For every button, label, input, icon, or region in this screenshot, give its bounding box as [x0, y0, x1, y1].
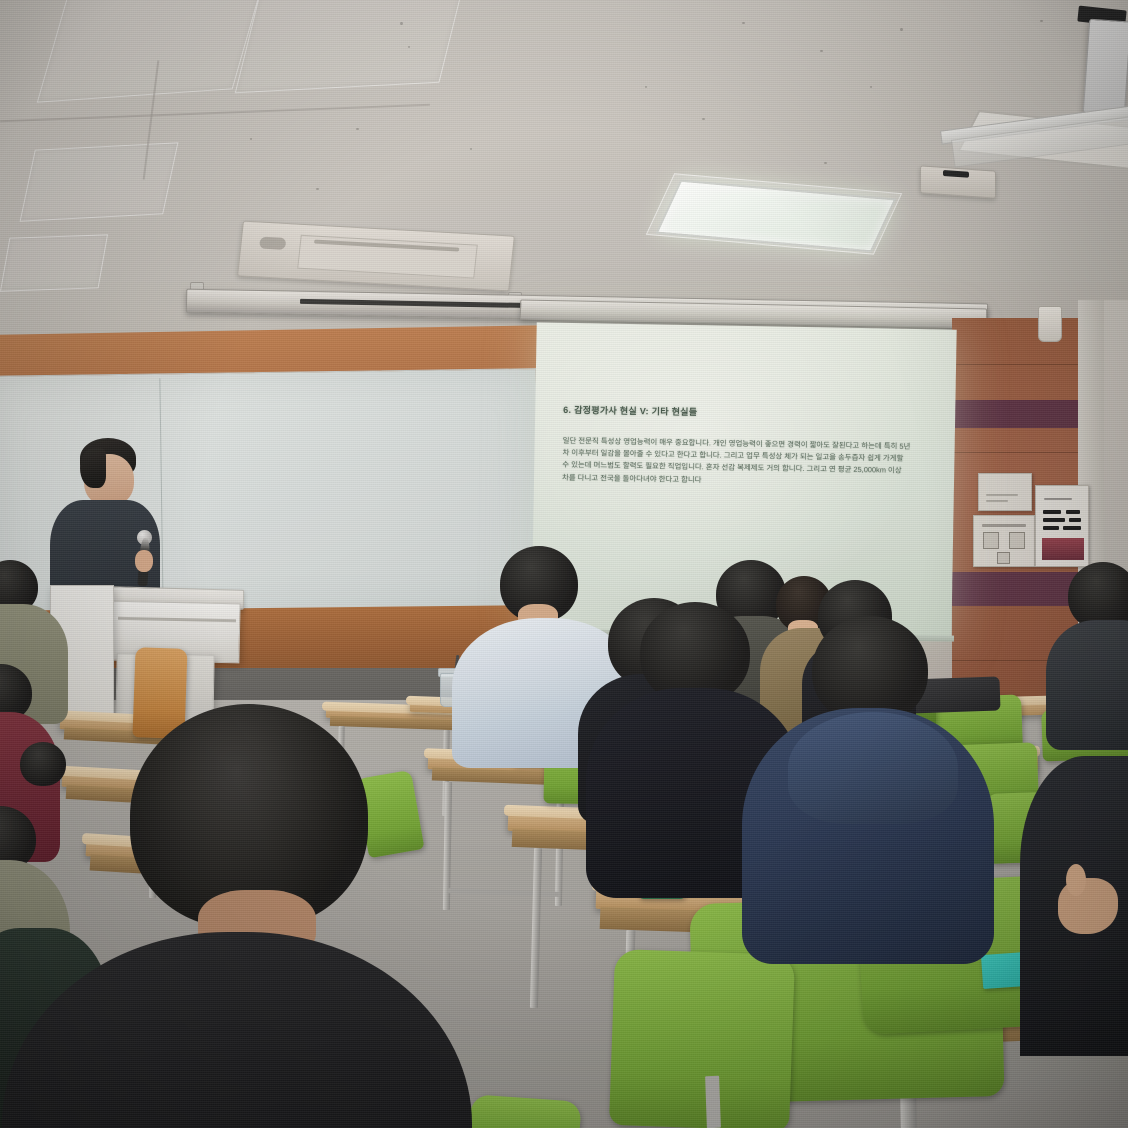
ceiling-speck [824, 162, 827, 164]
ceiling-speck [250, 138, 252, 140]
wall-accent-band [952, 400, 1078, 428]
ceiling-speck [900, 28, 903, 31]
hoodie-hood [788, 712, 958, 824]
ceiling-tile [0, 234, 108, 291]
notice-text-line [982, 524, 1026, 527]
ceiling-projector-mount [1083, 19, 1128, 116]
ceiling-speck [1040, 20, 1043, 22]
wall-accent-band [952, 572, 1078, 606]
ceiling-speck [316, 188, 319, 190]
poster-text-bar [1063, 526, 1081, 530]
poster-color [1035, 485, 1089, 567]
finger [1066, 864, 1086, 896]
chair-leg [705, 1076, 721, 1128]
poster-header-line [1044, 498, 1072, 500]
notice-icon-box [1009, 532, 1025, 549]
ac-vent-slot [259, 237, 286, 250]
mount-bolt [943, 170, 969, 178]
ceiling-speck [645, 86, 647, 88]
ceiling-speck [702, 118, 705, 120]
wall-panel-seam [952, 452, 1078, 453]
poster-text-bar [1066, 510, 1080, 514]
presenter-hand [135, 550, 153, 572]
poster-image [1042, 538, 1084, 560]
poster-text-bar [1043, 518, 1065, 522]
wall-light-fixture [1038, 306, 1062, 342]
presenter-hair-side [80, 448, 106, 488]
ceiling-speck [470, 148, 472, 150]
ceiling-tile [37, 0, 266, 103]
notice-sheet-upper [978, 473, 1032, 511]
poster-text-bar [1043, 510, 1061, 514]
ceiling-speck [408, 46, 410, 48]
torso [1046, 620, 1128, 750]
ceiling-speck [870, 86, 872, 88]
poster-text-bar [1069, 518, 1081, 522]
chair-green-foreground-left[interactable] [609, 949, 795, 1128]
head [20, 742, 66, 786]
wall-panel-seam [952, 364, 1078, 365]
ceiling-speck [400, 22, 403, 25]
ceiling-speck [742, 22, 745, 24]
lecture-hall-photo: 6. 감정평가사 현실 V: 기타 현실들 일단 전문직 특성상 영업능력이 매… [0, 0, 1128, 1128]
notice-sheet-lower [973, 515, 1035, 567]
notice-icon-box [983, 532, 999, 549]
ceiling-tile [20, 142, 179, 221]
notice-text-line [986, 500, 1008, 502]
ceiling-speck [356, 128, 359, 130]
ceiling-speck [820, 50, 823, 52]
ceiling-tile [235, 0, 468, 93]
poster-text-bar [1043, 526, 1059, 530]
notice-icon-box [997, 552, 1010, 564]
notice-text-line [986, 494, 1018, 496]
slide-body-text: 일단 전문직 특성상 영업능력이 매우 중요합니다. 개인 영업능력이 좋으면 … [562, 435, 911, 490]
slide-title: 6. 감정평가사 현실 V: 기타 현실들 [563, 403, 903, 422]
ceiling-mount-box [920, 165, 996, 198]
